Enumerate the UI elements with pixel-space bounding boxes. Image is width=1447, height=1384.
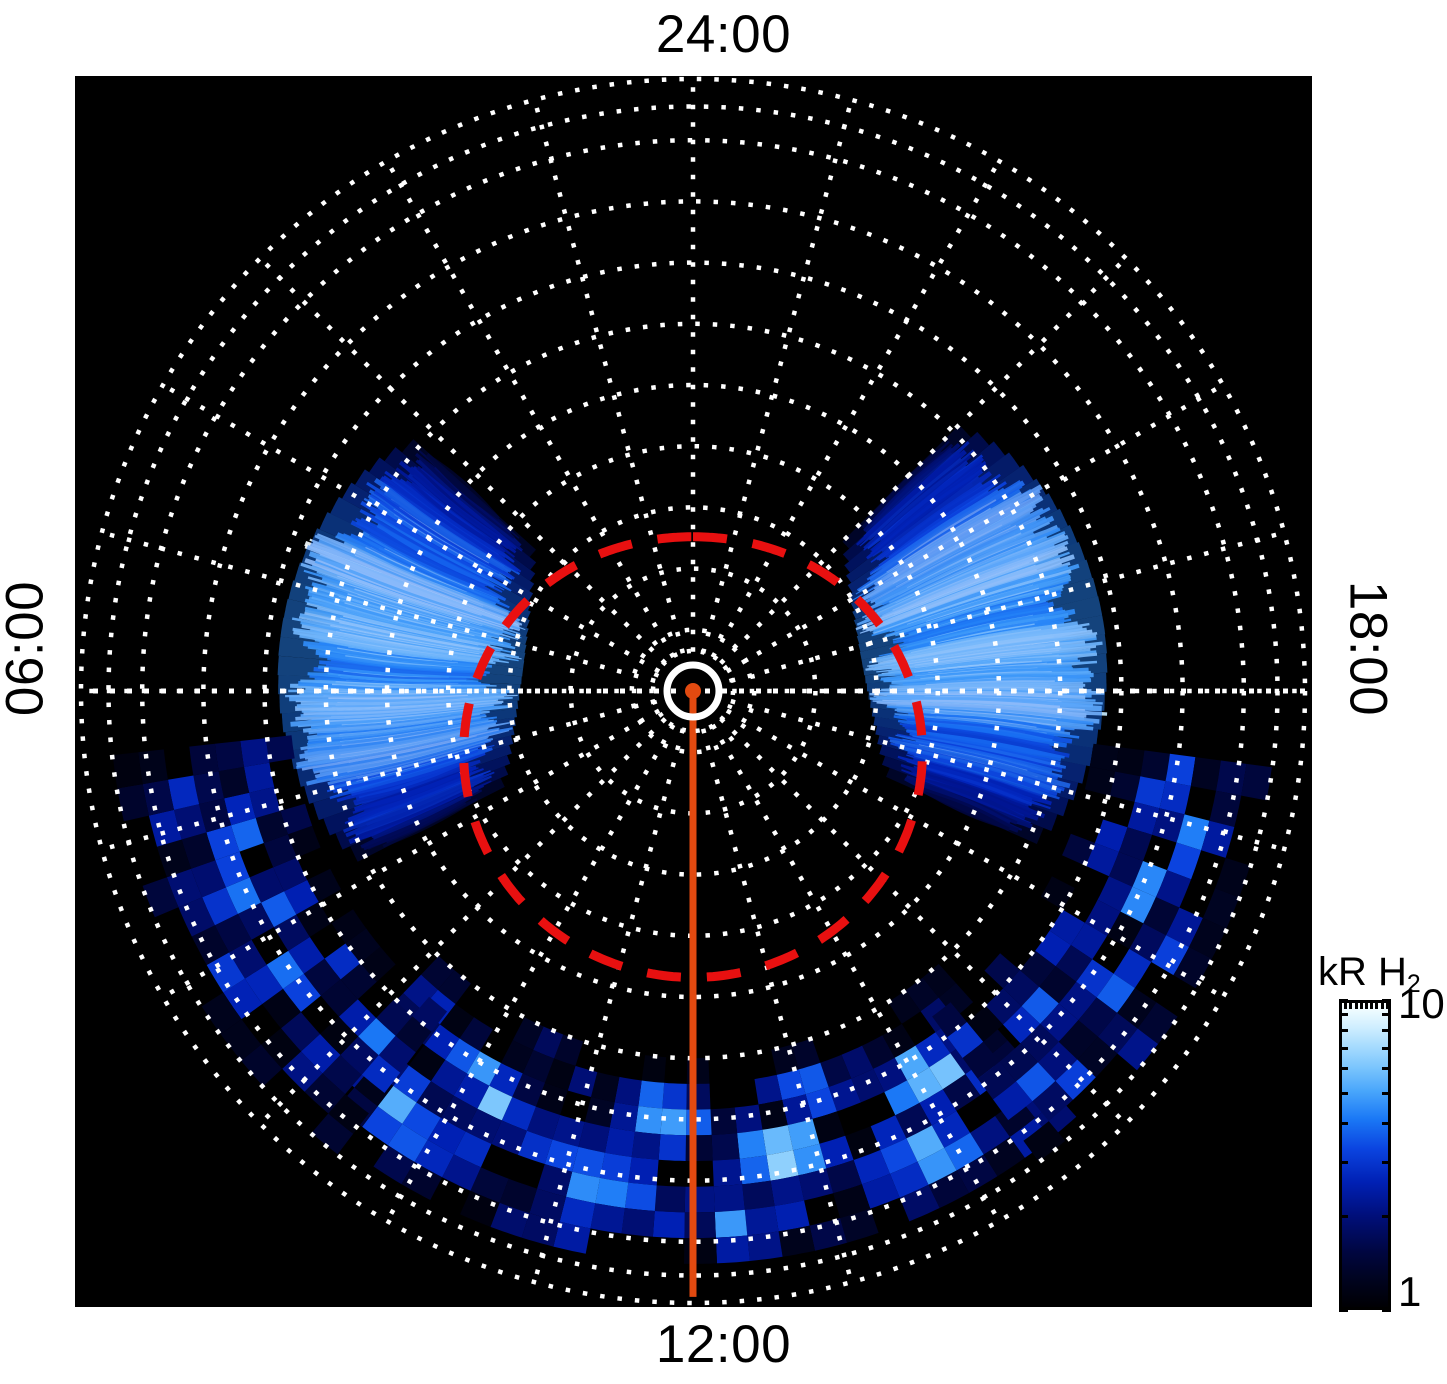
figure-root: 24:00 12:00 06:00 18:00 [0,0,1447,1384]
colorbar-min-label: 1 [1398,1268,1421,1316]
axis-label-dusk: 18:00 [1342,569,1395,729]
colorbar-max-label: 10 [1398,980,1445,1028]
axis-label-noon: 12:00 [0,1318,1447,1371]
colorbar-title-text: kR H [1318,950,1407,994]
polar-plot-canvas [75,76,1312,1307]
axis-label-dawn: 06:00 [0,569,52,729]
axis-label-midnight: 24:00 [0,8,1447,61]
colorbar: kR H2 10 1 [1312,950,1447,1320]
polar-plot-panel [75,76,1312,1307]
colorbar-tickmarks [1339,1000,1391,1310]
